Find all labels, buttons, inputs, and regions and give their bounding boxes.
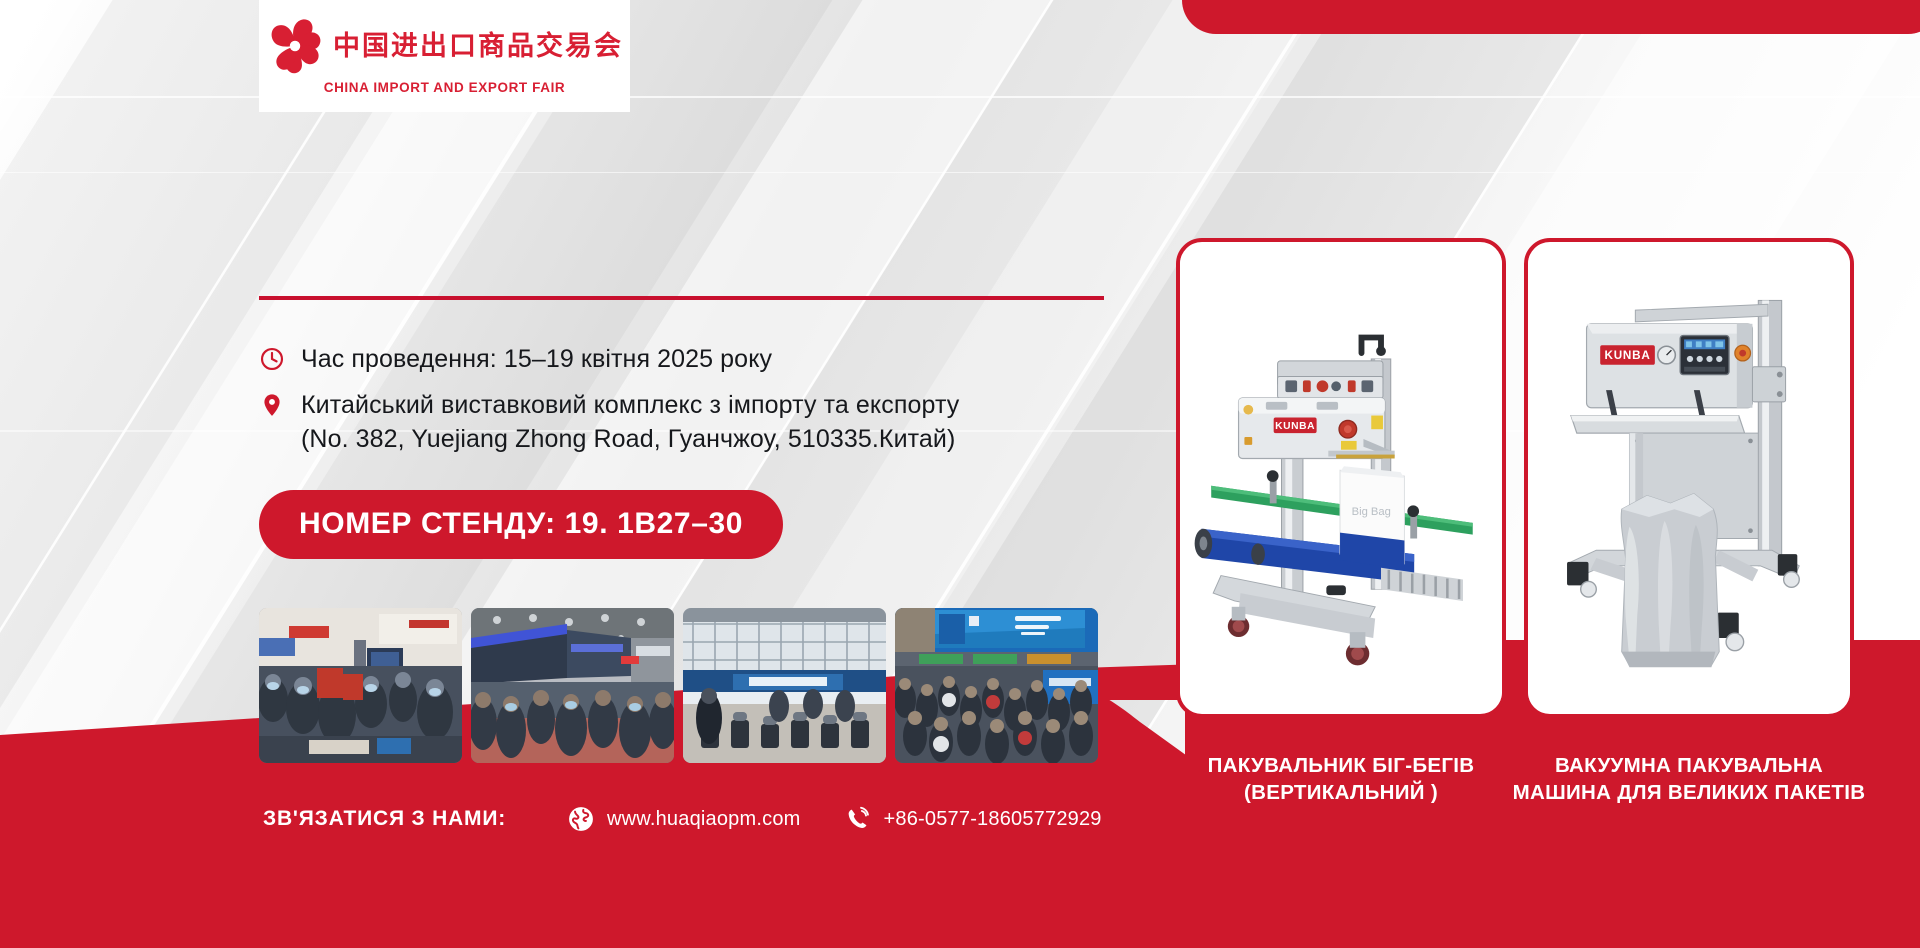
contact-phone-text: +86-0577-18605772929 [884,808,1102,831]
exhibition-photo-3 [683,608,886,763]
product-1-caption-line-1: ВАКУУМНА ПАКУВАЛЬНА [1555,754,1823,777]
section-divider [259,296,1104,300]
event-info-block: Час проведення: 15–19 квітня 2025 року К… [259,342,1159,468]
product-1-caption-line-2: МАШИНА ДЛЯ ВЕЛИКИХ ПАКЕТІВ [1513,781,1866,804]
contact-label: ЗВ'ЯЗАТИСЯ З НАМИ: [263,807,506,831]
globe-icon [568,806,594,832]
exhibition-photo-2 [471,608,674,763]
product-0-caption-line-1: ПАКУВАЛЬНИК БІГ-БЕГІВ [1208,754,1475,777]
event-date-row: Час проведення: 15–19 квітня 2025 року [259,342,1159,376]
logo-chinese-text: 中国进出口商品交易会 [333,33,623,60]
event-date-text: Час проведення: 15–19 квітня 2025 року [301,342,772,376]
svg-text:KUNBA: KUNBA [1604,349,1650,362]
venue-line-2: (No. 382, Yuejiang Zhong Road, Гуанчжоу,… [301,422,959,456]
contact-website-text: www.huaqiaopm.com [607,808,801,831]
canton-fair-logo: 中国进出口商品交易会 CHINA IMPORT AND EXPORT FAIR [259,0,630,112]
location-pin-icon [259,392,285,418]
logo-english-text: CHINA IMPORT AND EXPORT FAIR [324,80,566,95]
phone-icon [845,806,871,832]
svg-text:Big Bag: Big Bag [1352,506,1391,518]
contact-website[interactable]: www.huaqiaopm.com [568,806,801,832]
promotional-banner: 中国进出口商品交易会 CHINA IMPORT AND EXPORT FAIR … [0,0,1920,948]
venue-line-1: Китайський виставковий комплекс з імпорт… [301,391,959,419]
contact-phone[interactable]: +86-0577-18605772929 [845,806,1102,832]
event-venue-row: Китайський виставковий комплекс з імпорт… [259,388,1159,456]
clock-icon [259,346,285,372]
canton-fair-flower-emblem [266,17,324,75]
exhibition-photo-4 [895,608,1098,763]
contact-bar: ЗВ'ЯЗАТИСЯ З НАМИ: www.huaqiaopm.com +86… [263,806,1102,832]
exhibition-photo-1 [259,608,462,763]
product-card-big-bag-packer: KUNBA [1176,238,1506,718]
exhibition-photo-strip [259,608,1098,763]
svg-text:KUNBA: KUNBA [1275,421,1315,432]
product-caption-vacuum-machine: ВАКУУМНА ПАКУВАЛЬНА МАШИНА ДЛЯ ВЕЛИКИХ П… [1509,752,1869,806]
product-card-vacuum-machine: KUNBA [1524,238,1854,718]
product-caption-big-bag-packer: ПАКУВАЛЬНИК БІГ-БЕГІВ (ВЕРТИКАЛЬНИЙ ) [1161,752,1521,806]
product-0-caption-line-2: (ВЕРТИКАЛЬНИЙ ) [1244,781,1438,804]
stand-number-badge: НОМЕР СТЕНДУ: 19. 1B27–30 [259,490,783,559]
